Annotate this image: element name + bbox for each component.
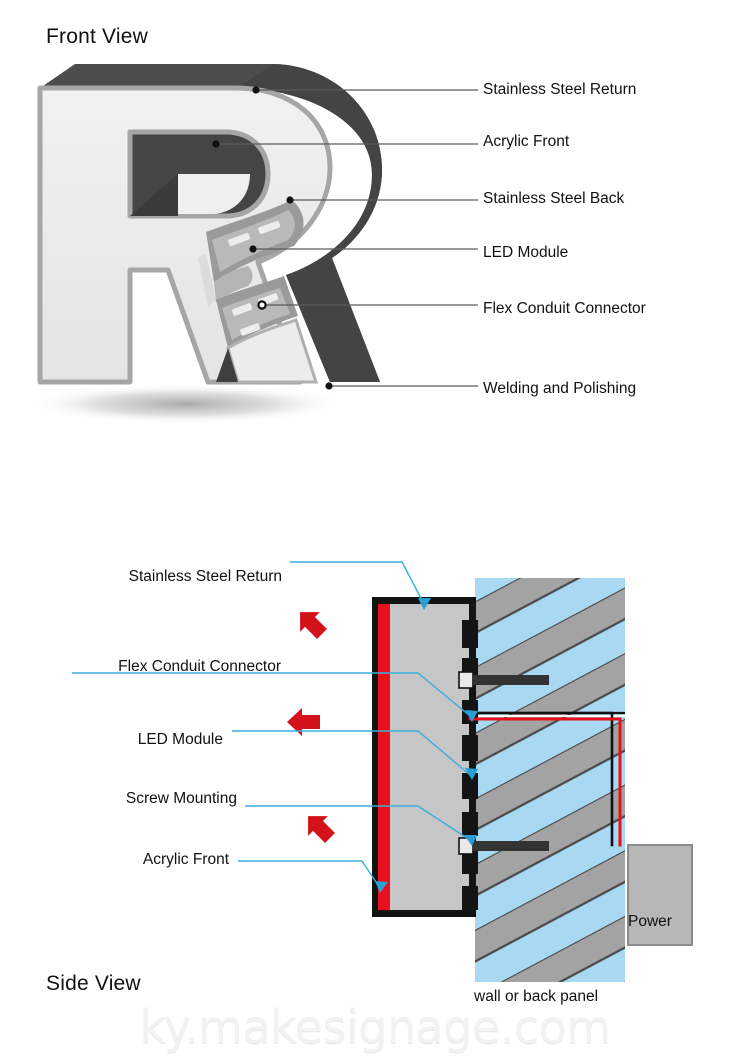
- front-view-section: Front View: [0, 0, 750, 470]
- front-callout-welding-and-polishing: Welding and Polishing: [483, 381, 636, 397]
- front-callout-stainless-steel-back: Stainless Steel Back: [483, 191, 624, 207]
- acrylic-front-strip: [378, 604, 390, 910]
- side-callout-acrylic-front: Acrylic Front: [143, 852, 229, 868]
- front-callout-flex-conduit-connector: Flex Conduit Connector: [483, 301, 646, 317]
- power-supply-label: Power: [628, 913, 672, 931]
- side-callout-screw-mounting: Screw Mounting: [126, 791, 237, 807]
- assembly-direction-arrows: [287, 602, 340, 848]
- front-view-labels: Stainless Steel Return Acrylic Front Sta…: [0, 0, 750, 470]
- side-view-illustration: [0, 470, 750, 1030]
- arrow-diagonal-top: [290, 602, 332, 644]
- wall-or-back-panel-caption: wall or back panel: [474, 988, 598, 1006]
- side-callout-stainless-steel-return: Stainless Steel Return: [129, 569, 282, 585]
- side-callout-flex-conduit-connector: Flex Conduit Connector: [118, 659, 281, 675]
- side-callout-led-module: LED Module: [138, 732, 223, 748]
- side-view-title: Side View: [46, 972, 141, 996]
- front-callout-led-module: LED Module: [483, 245, 568, 261]
- wall-back-panel: [475, 578, 625, 982]
- side-view-section: Side View: [0, 470, 750, 1030]
- front-callout-acrylic-front: Acrylic Front: [483, 134, 569, 150]
- arrow-diagonal-bottom: [298, 806, 340, 848]
- arrow-horizontal-middle: [287, 708, 320, 736]
- front-callout-stainless-steel-return: Stainless Steel Return: [483, 82, 636, 98]
